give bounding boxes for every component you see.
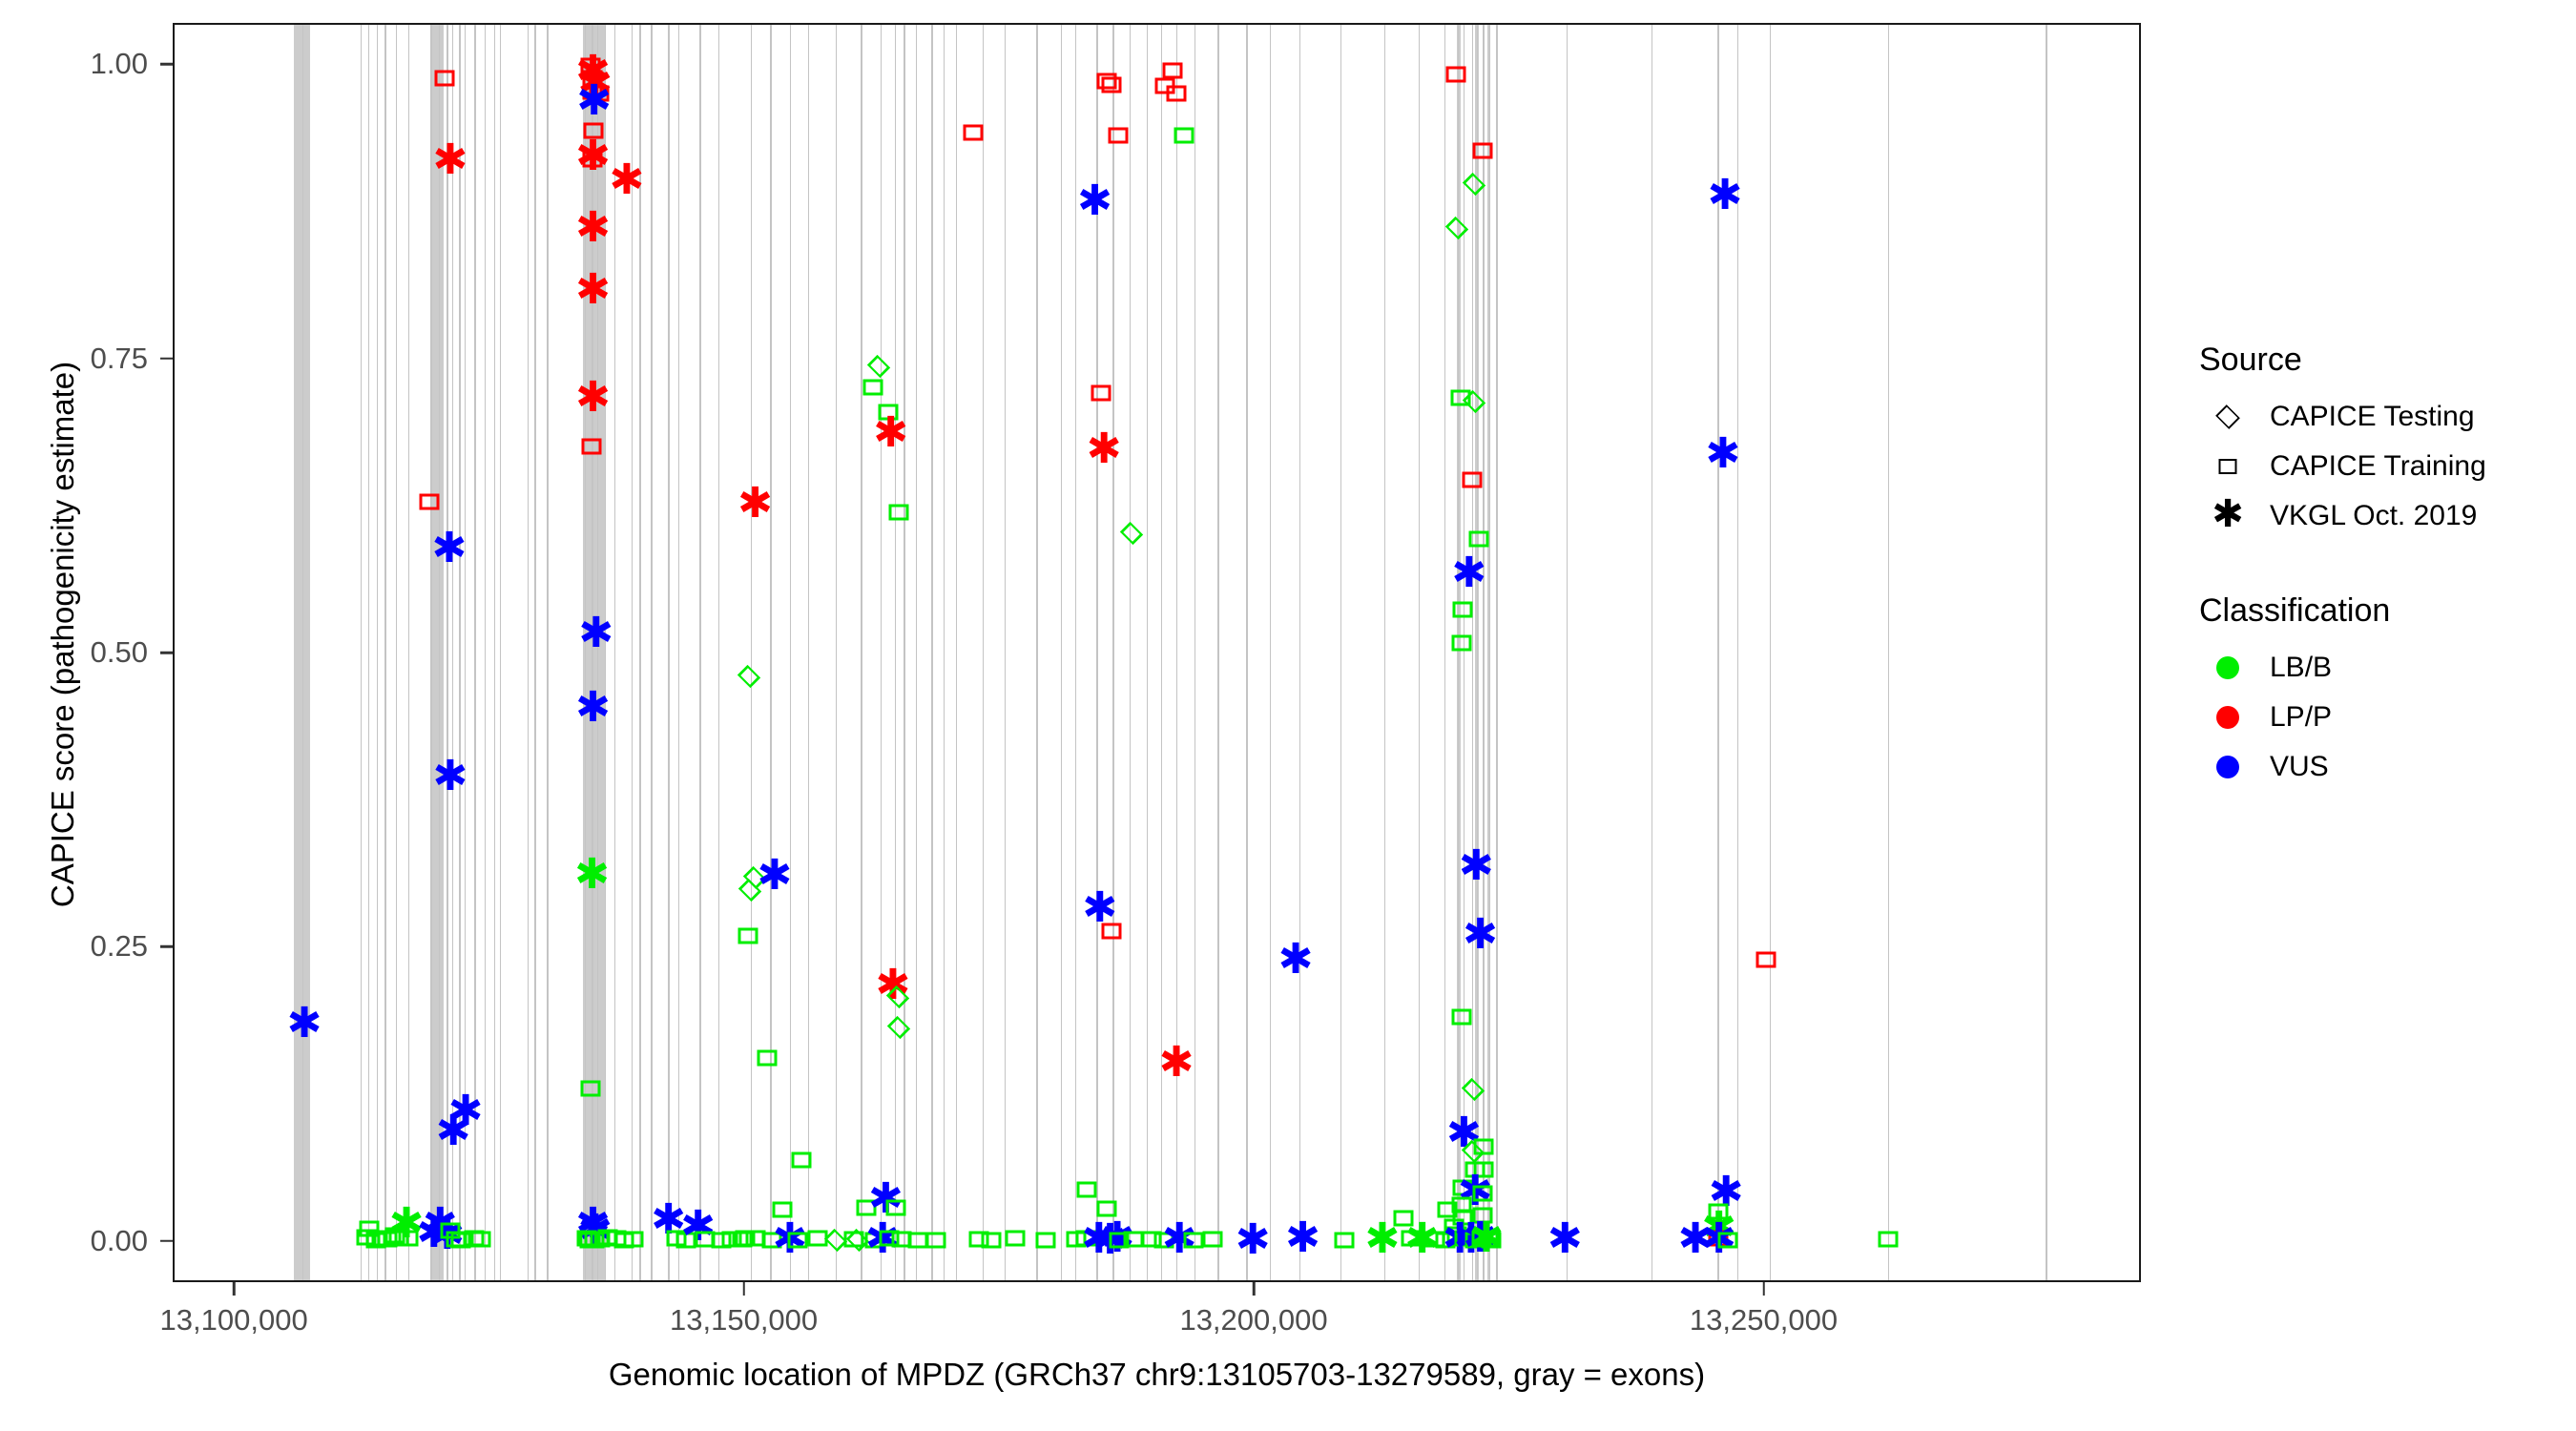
data-point — [1473, 143, 1493, 159]
data-point — [737, 665, 760, 688]
variant-gridline — [836, 25, 837, 1280]
data-point — [788, 1233, 808, 1249]
y-tick-mark — [160, 357, 173, 360]
legend-label: VUS — [2270, 751, 2329, 783]
legend-label: CAPICE Testing — [2270, 401, 2475, 433]
data-point — [963, 125, 983, 141]
variant-gridline — [639, 25, 640, 1280]
variant-gridline — [956, 25, 957, 1280]
variant-gridline — [1384, 25, 1385, 1280]
data-point — [1451, 634, 1471, 651]
data-point — [582, 438, 602, 454]
data-point — [1183, 1233, 1203, 1249]
variant-gridline — [668, 25, 669, 1280]
data-point — [433, 760, 466, 793]
variant-gridline — [808, 25, 809, 1280]
legend-title-source: Source — [2199, 342, 2571, 379]
variant-gridline — [1458, 25, 1459, 1280]
variant-gridline — [699, 25, 700, 1280]
data-point — [1451, 1008, 1471, 1025]
variant-gridline — [718, 25, 719, 1280]
variant-gridline — [1888, 25, 1889, 1280]
plot-panel — [173, 23, 2141, 1282]
x-tick-label: 13,250,000 — [1690, 1303, 1838, 1338]
data-point — [575, 692, 608, 724]
legend-label: CAPICE Training — [2270, 450, 2486, 483]
variant-gridline — [651, 25, 652, 1280]
variant-gridline — [439, 25, 440, 1280]
data-point — [420, 493, 440, 509]
data-point — [575, 212, 608, 244]
data-point — [1285, 1222, 1318, 1255]
x-axis-title: Genomic location of MPDZ (GRCh37 chr9:13… — [173, 1357, 2141, 1393]
data-point — [1365, 1223, 1398, 1255]
data-point — [1163, 63, 1183, 79]
data-point — [873, 417, 905, 449]
x-tick-label: 13,150,000 — [670, 1303, 818, 1338]
data-point — [758, 1050, 778, 1067]
y-tick-label: 1.00 — [14, 47, 148, 81]
variant-gridline — [1176, 25, 1177, 1280]
data-point — [866, 355, 889, 378]
variant-gridline — [678, 25, 679, 1280]
variant-gridline — [861, 25, 862, 1280]
legend-color-rows: LB/BLP/PVUS — [2199, 643, 2571, 792]
variant-gridline — [396, 25, 397, 1280]
data-point — [1755, 951, 1776, 967]
data-point — [737, 927, 758, 944]
variant-gridline — [408, 25, 409, 1280]
variant-gridline — [528, 25, 529, 1280]
variant-gridline — [916, 25, 917, 1280]
data-point — [1119, 522, 1142, 545]
data-point — [1473, 1186, 1493, 1202]
data-point — [1481, 1233, 1501, 1249]
variant-gridline — [1299, 25, 1300, 1280]
variant-gridline — [485, 25, 486, 1280]
data-point — [1102, 76, 1122, 93]
data-point — [926, 1233, 946, 1249]
data-point — [1474, 1138, 1494, 1154]
y-tick-label: 0.25 — [14, 929, 148, 964]
data-point — [287, 1007, 320, 1040]
y-axis-title: CAPICE score (pathogenicity estimate) — [42, 0, 84, 1269]
variant-gridline — [430, 25, 431, 1280]
legend-label: VKGL Oct. 2019 — [2270, 500, 2477, 532]
data-point — [1166, 85, 1186, 101]
variant-gridline — [983, 25, 984, 1280]
y-tick-mark — [160, 63, 173, 66]
data-point — [583, 151, 603, 167]
y-tick-mark — [160, 652, 173, 654]
variant-gridline — [377, 25, 378, 1280]
legend-label: LB/B — [2270, 652, 2332, 684]
data-point — [982, 1233, 1002, 1249]
legend-item-asterisk[interactable]: VKGL Oct. 2019 — [2199, 491, 2571, 541]
data-point — [1005, 1230, 1025, 1246]
variant-gridline — [1489, 25, 1490, 1280]
variant-gridline — [1161, 25, 1162, 1280]
legend-item-lp-p[interactable]: LP/P — [2199, 693, 2571, 742]
color-dot — [2216, 656, 2239, 679]
data-point — [737, 487, 770, 520]
variant-gridline — [614, 25, 615, 1280]
variant-gridline — [632, 25, 633, 1280]
y-tick-mark — [160, 945, 173, 948]
variant-gridline — [534, 25, 535, 1280]
data-point — [792, 1152, 812, 1169]
variant-gridline — [1652, 25, 1652, 1280]
data-point — [1108, 127, 1128, 143]
data-point — [1548, 1223, 1580, 1255]
variant-gridline — [1005, 25, 1006, 1280]
x-tick-mark — [1762, 1282, 1765, 1296]
variant-gridline — [361, 25, 362, 1280]
data-point — [1076, 1182, 1096, 1198]
color-dot — [2216, 756, 2239, 778]
data-point — [1203, 1232, 1223, 1248]
data-point — [448, 1095, 481, 1128]
variant-gridline — [1061, 25, 1062, 1280]
data-point — [1236, 1224, 1268, 1256]
data-point — [1717, 1233, 1737, 1249]
legend: Source CAPICE TestingCAPICE TrainingVKGL… — [2199, 342, 2571, 792]
variant-gridline — [1270, 25, 1271, 1280]
variant-gridline — [1075, 25, 1076, 1280]
color-dot-icon — [2199, 693, 2256, 742]
legend-item-diamond[interactable]: CAPICE Testing — [2199, 392, 2571, 442]
data-point — [757, 860, 789, 892]
x-tick-mark — [233, 1282, 236, 1296]
data-point — [431, 532, 464, 565]
data-point — [1174, 127, 1195, 143]
data-point — [435, 70, 455, 86]
data-point — [609, 164, 641, 197]
data-point — [1678, 1223, 1711, 1255]
variant-gridline — [1217, 25, 1218, 1280]
variant-gridline — [1195, 25, 1195, 1280]
variant-gridline — [1444, 25, 1445, 1280]
data-point — [624, 1232, 644, 1248]
variant-gridline — [1770, 25, 1771, 1280]
variant-gridline — [1112, 25, 1113, 1280]
variant-gridline — [384, 25, 385, 1280]
asterisk-glyph — [2212, 495, 2244, 533]
x-tick-mark — [742, 1282, 745, 1296]
diamond-glyph — [2215, 404, 2240, 429]
data-point — [575, 274, 608, 306]
variant-gridline — [1496, 25, 1497, 1280]
variant-gridline — [790, 25, 791, 1280]
data-point — [887, 1016, 910, 1039]
data-point — [1035, 1233, 1055, 1249]
data-point — [888, 504, 908, 520]
exon-band — [431, 25, 444, 1280]
variant-gridline — [1036, 25, 1037, 1280]
data-point — [1459, 850, 1491, 882]
data-point — [1463, 172, 1485, 195]
variant-gridline — [895, 25, 896, 1280]
data-point — [1462, 472, 1482, 488]
data-point — [433, 144, 466, 176]
diamond-icon — [2199, 392, 2256, 442]
data-point — [1404, 1223, 1437, 1255]
data-point — [1451, 557, 1484, 590]
data-point — [1469, 531, 1489, 548]
x-tick-label: 13,200,000 — [1179, 1303, 1327, 1338]
variant-gridline — [751, 25, 752, 1280]
data-point — [1087, 433, 1119, 466]
variant-gridline — [881, 25, 882, 1280]
data-point — [576, 85, 609, 117]
data-point — [1706, 438, 1738, 470]
variant-gridline — [500, 25, 501, 1280]
variant-gridline — [1130, 25, 1131, 1280]
legend-title-classification: Classification — [2199, 592, 2571, 630]
chart-root: CAPICE score (pathogenicity estimate) 0.… — [0, 0, 2576, 1431]
data-point — [1445, 66, 1465, 82]
x-tick-label: 13,100,000 — [160, 1303, 308, 1338]
data-point — [575, 382, 608, 414]
color-dot-icon — [2199, 742, 2256, 792]
asterisk-icon — [2199, 491, 2256, 541]
data-point — [1091, 385, 1111, 402]
y-tick-label: 0.75 — [14, 342, 148, 376]
variant-gridline — [944, 25, 945, 1280]
color-dot — [2216, 706, 2239, 729]
data-point — [1102, 923, 1122, 939]
data-point — [1077, 185, 1110, 218]
data-point — [574, 859, 607, 891]
plot-area — [175, 25, 2139, 1280]
data-point — [1082, 892, 1114, 924]
data-point — [581, 1081, 601, 1097]
data-point — [578, 617, 611, 650]
variant-gridline — [547, 25, 548, 1280]
square-icon — [2199, 442, 2256, 491]
legend-item-vus[interactable]: VUS — [2199, 742, 2571, 792]
variant-gridline — [1147, 25, 1148, 1280]
variant-gridline — [1567, 25, 1568, 1280]
data-point — [863, 379, 883, 395]
variant-gridline — [2046, 25, 2046, 1280]
data-point — [1335, 1233, 1355, 1249]
data-point — [885, 1199, 905, 1215]
variant-gridline — [904, 25, 904, 1280]
variant-gridline — [770, 25, 771, 1280]
y-tick-label: 0.50 — [14, 635, 148, 670]
data-point — [1123, 1232, 1143, 1248]
data-point — [1463, 919, 1495, 951]
variant-gridline — [494, 25, 495, 1280]
data-point — [1878, 1232, 1898, 1248]
data-point — [470, 1232, 490, 1248]
legend-item-lb-b[interactable]: LB/B — [2199, 643, 2571, 693]
y-tick-label: 0.00 — [14, 1224, 148, 1258]
data-point — [908, 1233, 928, 1249]
data-point — [398, 1230, 418, 1246]
y-tick-mark — [160, 1240, 173, 1243]
variant-gridline — [1246, 25, 1247, 1280]
data-point — [1159, 1047, 1192, 1079]
legend-shape-rows: CAPICE TestingCAPICE TrainingVKGL Oct. 2… — [2199, 392, 2571, 541]
variant-gridline — [931, 25, 932, 1280]
data-point — [1453, 602, 1473, 618]
variant-gridline — [302, 25, 303, 1280]
variant-gridline — [368, 25, 369, 1280]
variant-gridline — [1419, 25, 1420, 1280]
data-point — [1278, 944, 1311, 976]
legend-label: LP/P — [2270, 701, 2332, 734]
variant-gridline — [1340, 25, 1341, 1280]
square-glyph — [2219, 459, 2237, 474]
color-dot-icon — [2199, 643, 2256, 693]
data-point — [1708, 179, 1740, 212]
legend-item-square[interactable]: CAPICE Training — [2199, 442, 2571, 491]
x-tick-mark — [1253, 1282, 1256, 1296]
